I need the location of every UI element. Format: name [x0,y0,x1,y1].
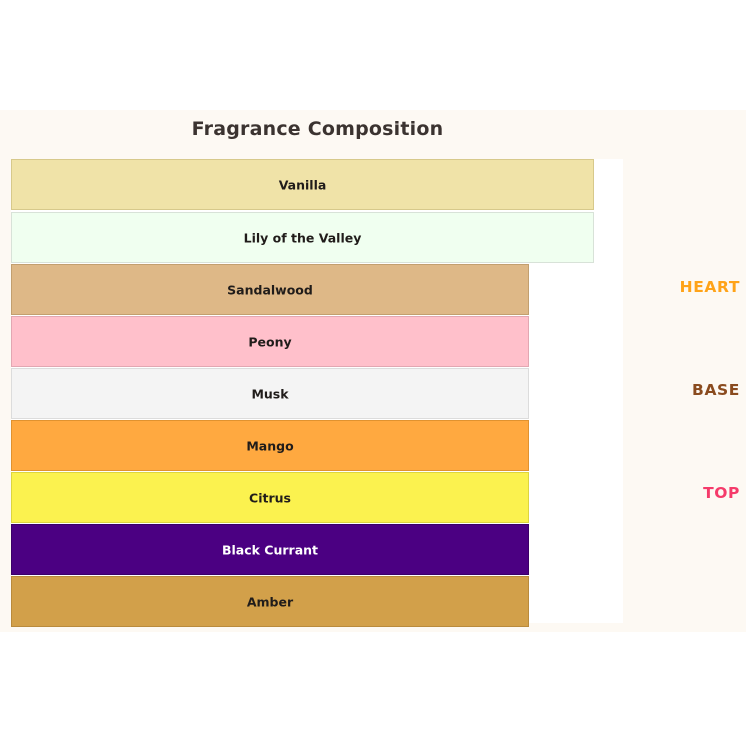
bar-peony[interactable]: Peony [11,316,529,367]
bar-label: Peony [12,334,528,349]
bar-amber[interactable]: Amber [11,576,529,627]
bar-label: Amber [12,594,528,609]
note-group-label-top: TOP [703,484,740,502]
bar-mango[interactable]: Mango [11,420,529,471]
bar-label: Sandalwood [12,282,528,297]
bar-label: Mango [12,438,528,453]
note-group-label-base: BASE [692,381,740,399]
bar-black-currant[interactable]: Black Currant [11,524,529,575]
bar-label: Black Currant [12,542,528,557]
bar-label: Citrus [12,490,528,505]
bar-musk[interactable]: Musk [11,368,529,419]
chart-figure: Fragrance Composition VanillaLily of the… [0,110,746,632]
bar-label: Musk [12,386,528,401]
bar-sandalwood[interactable]: Sandalwood [11,264,529,315]
bar-vanilla[interactable]: Vanilla [11,159,594,210]
bar-label: Lily of the Valley [12,230,593,245]
note-group-label-heart: HEART [680,278,740,296]
bar-citrus[interactable]: Citrus [11,472,529,523]
bar-lily-of-the-valley[interactable]: Lily of the Valley [11,212,594,263]
bar-label: Vanilla [12,177,593,192]
chart-title: Fragrance Composition [0,118,635,140]
